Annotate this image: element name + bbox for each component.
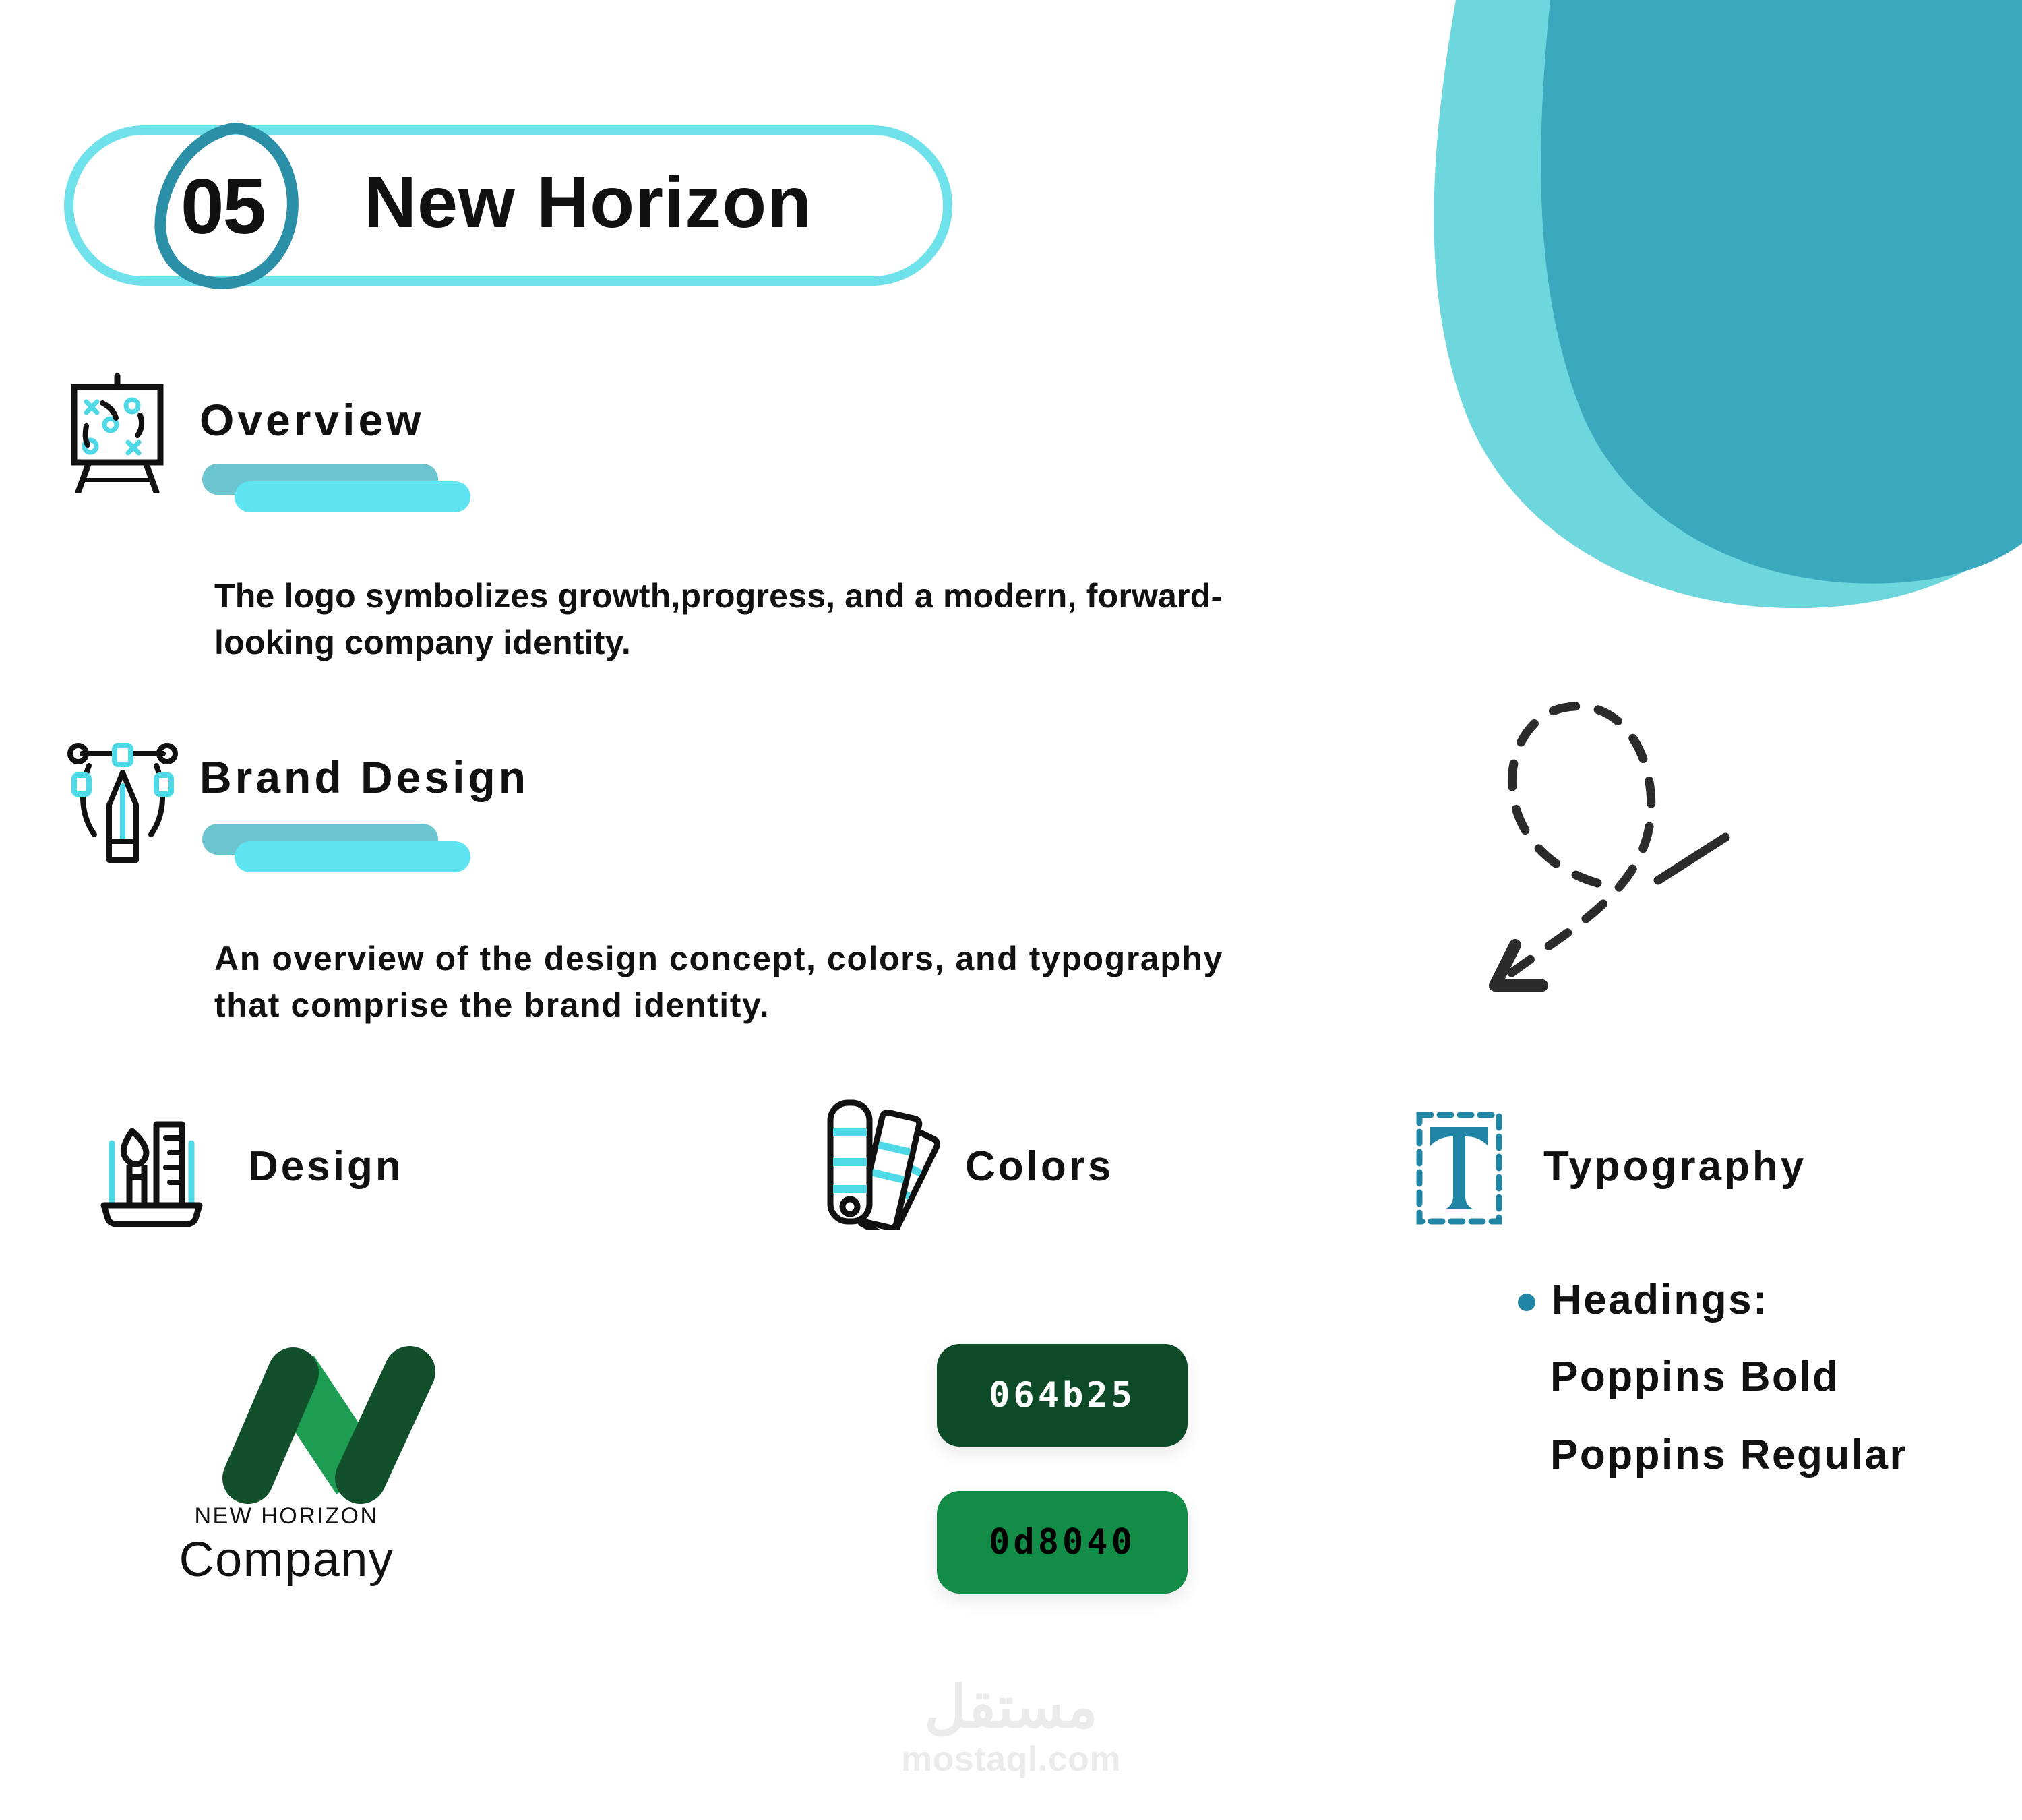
column-label-typography: Typography [1543,1146,1806,1188]
watermark-arabic: مستقل [869,1678,1153,1736]
logo-tagline: NEW HORIZON [118,1505,455,1527]
underline-bar-front [235,481,470,512]
color-swatch-fan-icon [824,1095,945,1233]
bullet-icon [1518,1294,1535,1311]
typography-t-icon [1415,1111,1503,1229]
section-body-brand-design: An overview of the design concept, color… [214,936,1279,1029]
dashed-loop-arrow-icon [1456,681,1793,1048]
decorative-blob-group [1415,0,2022,620]
color-swatch-chip[interactable]: 0d8040 [937,1491,1188,1594]
new-horizon-chevron-mark [216,1331,445,1517]
brush-ruler-cup-icon [94,1105,209,1230]
column-label-colors: Colors [965,1146,1113,1188]
section-heading-brand-design: Brand Design [200,755,529,799]
typography-line: Headings: [1552,1279,1769,1321]
typography-line: Poppins Bold [1550,1356,1840,1398]
blob-inner-shape [1541,0,2022,584]
slide-number: 05 [181,167,265,245]
logo-company-name: Company [118,1536,455,1584]
section-body-overview: The logo symbolizes growth,progress, and… [214,573,1266,666]
pen-tool-icon [62,735,183,873]
heading-underline-overview [202,464,485,522]
typography-line: Poppins Regular [1550,1434,1907,1476]
blob-outer-shape [1434,0,2022,608]
underline-bar-front [235,841,470,872]
color-swatch-chip[interactable]: 064b25 [937,1344,1188,1447]
page-title: New Horizon [364,166,812,239]
column-label-design: Design [248,1146,404,1188]
watermark: مستقل mostaql.com [869,1678,1153,1777]
heading-underline-brand-design [202,824,485,882]
easel-board-icon [62,372,177,497]
watermark-latin: mostaql.com [869,1742,1153,1777]
section-heading-overview: Overview [200,398,425,442]
brand-guideline-slide: 05 New Horizon Overview [0,0,2022,1820]
